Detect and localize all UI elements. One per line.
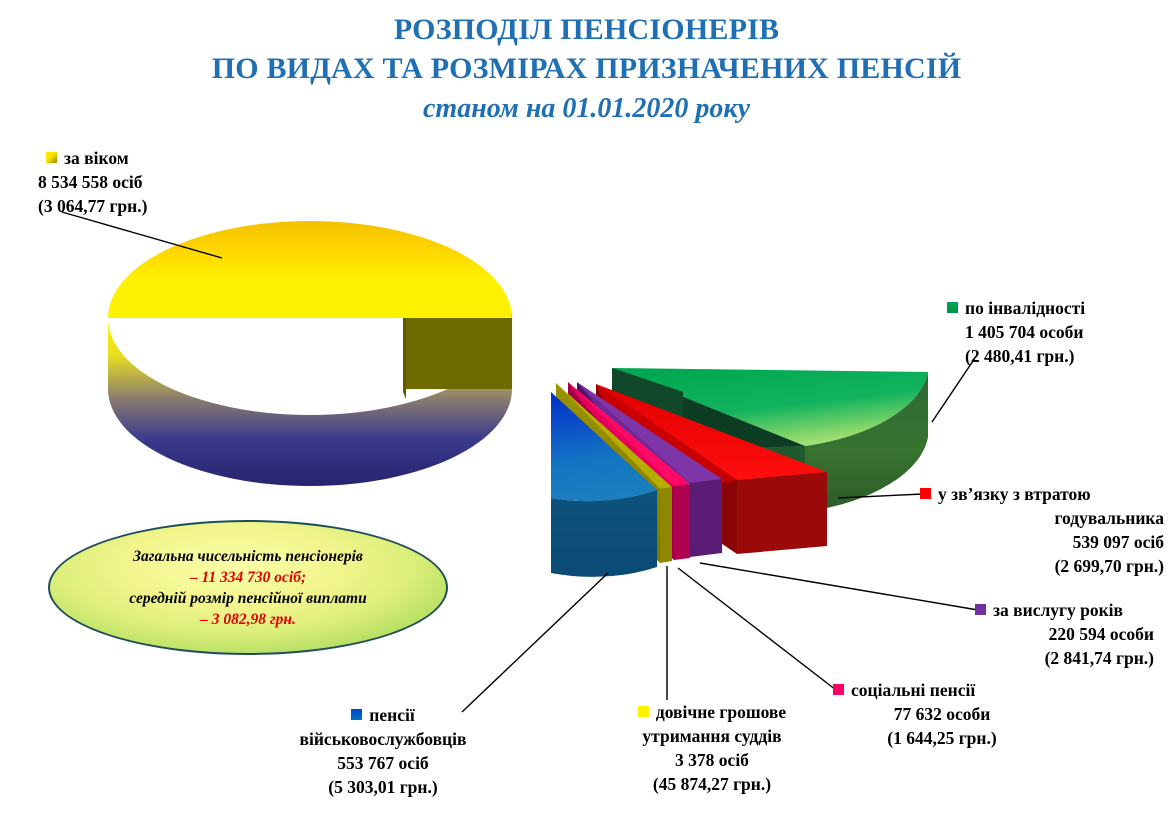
- callout-service: за вислугу років 220 594 особи (2 841,74…: [975, 598, 1155, 670]
- pie-slice-age: [108, 221, 512, 486]
- slide-canvas: РОЗПОДІЛ ПЕНСІОНЕРІВ ПО ВИДАХ ТА РОЗМІРА…: [0, 0, 1173, 818]
- callout-judges-label2: утримання суддів: [600, 724, 810, 748]
- callout-judges-people: 3 378 осіб: [600, 748, 810, 772]
- legend-swatch-pink-icon: [833, 684, 844, 695]
- callout-age: за віком 8 534 558 осіб (3 064,77 грн.): [24, 146, 147, 218]
- pie-slice-judges: [556, 383, 672, 563]
- callout-service-label: за вислугу років: [993, 600, 1123, 620]
- callout-disability-people: 1 405 704 особи: [965, 320, 1085, 344]
- leader-line-breadwinner: [838, 494, 923, 498]
- callout-military: пенсії військовослужбовців 553 767 осіб …: [250, 703, 490, 799]
- summary-line-1: Загальна чисельність пенсіонерів: [133, 546, 363, 567]
- leader-line-social: [678, 568, 836, 690]
- summary-line-3: середній розмір пенсійної виплати: [129, 588, 366, 609]
- title-subtitle: станом на 01.01.2020 року: [0, 91, 1173, 127]
- summary-line-4: – 3 082,98 грн.: [200, 609, 296, 630]
- callout-judges-amount: (45 874,27 грн.): [600, 772, 810, 796]
- summary-callout-ellipse: Загальна чисельність пенсіонерів – 11 33…: [48, 520, 448, 655]
- callout-judges-label: довічне грошове: [656, 702, 786, 722]
- leader-line-age: [62, 212, 222, 258]
- callout-service-people: 220 594 особи: [975, 622, 1155, 646]
- callout-breadwinner-label2: годувальника: [920, 506, 1170, 530]
- callout-military-label2: військовослужбовців: [250, 727, 490, 751]
- legend-swatch-red-icon: [920, 488, 931, 499]
- callout-breadwinner-people: 539 097 осіб: [920, 530, 1170, 554]
- callout-social: соціальні пенсії 77 632 особи (1 644,25 …: [833, 678, 1033, 750]
- pie-slice-breadwinner: [596, 384, 827, 560]
- callout-social-amount: (1 644,25 грн.): [833, 726, 1033, 750]
- callout-breadwinner-amount: (2 699,70 грн.): [920, 554, 1170, 578]
- callout-age-amount: (3 064,77 грн.): [38, 194, 147, 218]
- callout-disability-amount: (2 480,41 грн.): [965, 344, 1085, 368]
- callout-disability: по інвалідності 1 405 704 особи (2 480,4…: [947, 296, 1085, 368]
- callout-social-people: 77 632 особи: [833, 702, 1033, 726]
- pie-slice-social: [568, 382, 690, 560]
- callout-breadwinner-label: у зв’язку з втратою: [938, 484, 1091, 504]
- callout-service-amount: (2 841,74 грн.): [975, 646, 1155, 670]
- callout-military-amount: (5 303,01 грн.): [250, 775, 490, 799]
- callout-military-people: 553 767 осіб: [250, 751, 490, 775]
- pie-slice-disability: [612, 368, 928, 517]
- title-line-2: ПО ВИДАХ ТА РОЗМІРАХ ПРИЗНАЧЕНИХ ПЕНСІЙ: [0, 49, 1173, 88]
- leader-line-military: [462, 573, 608, 712]
- page-title: РОЗПОДІЛ ПЕНСІОНЕРІВ ПО ВИДАХ ТА РОЗМІРА…: [0, 10, 1173, 127]
- callout-breadwinner: у зв’язку з втратою годувальника 539 097…: [920, 482, 1170, 578]
- legend-swatch-yellow2-icon: [638, 706, 649, 717]
- pie-slice-military: [551, 392, 657, 577]
- callout-age-people: 8 534 558 осіб: [38, 170, 147, 194]
- callout-military-label: пенсії: [369, 705, 414, 725]
- pie-slice-service: [577, 382, 722, 557]
- legend-swatch-purple-icon: [975, 604, 986, 615]
- title-line-1: РОЗПОДІЛ ПЕНСІОНЕРІВ: [0, 10, 1173, 49]
- legend-swatch-blue-icon: [351, 709, 362, 720]
- callout-judges: довічне грошове утримання суддів 3 378 о…: [600, 700, 810, 796]
- callout-social-label: соціальні пенсії: [851, 680, 975, 700]
- legend-swatch-yellow-icon: [46, 152, 57, 163]
- callout-age-label: за віком: [64, 148, 129, 168]
- callout-disability-label: по інвалідності: [965, 298, 1085, 318]
- summary-line-2: – 11 334 730 осіб;: [190, 567, 306, 588]
- legend-swatch-green-icon: [947, 302, 958, 313]
